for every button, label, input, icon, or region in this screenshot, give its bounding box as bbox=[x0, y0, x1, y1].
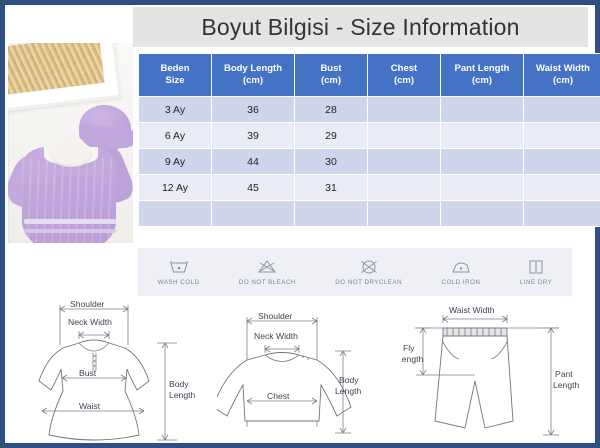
do-not-bleach-icon bbox=[256, 258, 278, 276]
size-chart-frame: Boyut Bilgisi - Size Information Beden S… bbox=[0, 0, 600, 448]
table-cell bbox=[441, 123, 524, 149]
table-cell: 30 bbox=[295, 149, 368, 175]
care-label: LINE DRY bbox=[520, 279, 552, 286]
page-title: Boyut Bilgisi - Size Information bbox=[201, 14, 519, 41]
dress-hem-stripe-1 bbox=[24, 219, 116, 224]
table-cell: 36 bbox=[212, 97, 295, 123]
care-label: WASH COLD bbox=[158, 279, 200, 286]
dress-collar bbox=[50, 141, 92, 167]
pant-label-waist-width: Waist Width bbox=[449, 305, 495, 315]
dress-hem-stripe-2 bbox=[24, 229, 116, 233]
care-label: COLD IRON bbox=[441, 279, 480, 286]
care-item-cold-iron: COLD IRON bbox=[441, 258, 480, 286]
care-item-line-dry: LINE DRY bbox=[520, 258, 552, 286]
dress-label-waist: Waist bbox=[79, 401, 101, 411]
table-cell: 44 bbox=[212, 149, 295, 175]
pant-label-pant-length: Length bbox=[553, 380, 580, 390]
column-header-waist-width: Waist Width (cm) bbox=[524, 54, 600, 97]
table-row: 12 Ay4531 bbox=[139, 175, 600, 201]
table-cell bbox=[524, 149, 600, 175]
table-cell bbox=[441, 175, 524, 201]
top-label-chest: Chest bbox=[267, 391, 290, 401]
table-cell: 12 Ay bbox=[139, 175, 212, 201]
care-item-do-not-bleach: DO NOT BLEACH bbox=[239, 258, 296, 286]
top-label-shoulder: Shoulder bbox=[258, 311, 293, 321]
table-cell: 3 Ay bbox=[139, 97, 212, 123]
size-table: Beden Size Body Length (cm) Bust (cm) Ch… bbox=[138, 53, 600, 227]
line-dry-icon bbox=[525, 258, 547, 276]
pant-label-pant: Pant bbox=[555, 369, 573, 379]
top-label-body: Body bbox=[339, 375, 359, 385]
column-header-pant-length: Pant Length (cm) bbox=[441, 54, 524, 97]
dress-label-bust: Bust bbox=[79, 368, 97, 378]
table-cell bbox=[441, 201, 524, 227]
table-row: 3 Ay3628 bbox=[139, 97, 600, 123]
dress-label-body: Body bbox=[169, 379, 189, 389]
table-cell bbox=[441, 97, 524, 123]
pant-label-fly-length: Length bbox=[401, 354, 424, 364]
table-cell bbox=[368, 123, 441, 149]
dress-label-shoulder: Shoulder bbox=[70, 299, 105, 309]
dress-label-neck-width: Neck Width bbox=[68, 317, 112, 327]
table-cell bbox=[441, 149, 524, 175]
table-cell bbox=[139, 201, 212, 227]
top-label-length: Length bbox=[335, 386, 362, 396]
technical-drawings: Shoulder Neck Width Bust Waist Body Leng… bbox=[5, 295, 595, 447]
table-cell bbox=[524, 201, 600, 227]
table-cell bbox=[295, 201, 368, 227]
column-header-beden-size: Beden Size bbox=[139, 54, 212, 97]
wash-cold-icon bbox=[168, 258, 190, 276]
table-cell: 39 bbox=[212, 123, 295, 149]
table-row: 6 Ay3929 bbox=[139, 123, 600, 149]
column-header-chest: Chest (cm) bbox=[368, 54, 441, 97]
care-item-wash-cold: WASH COLD bbox=[158, 258, 200, 286]
dress-diagram: Shoulder Neck Width Bust Waist Body Leng… bbox=[13, 295, 213, 447]
table-cell: 9 Ay bbox=[139, 149, 212, 175]
title-band: Boyut Bilgisi - Size Information bbox=[133, 7, 588, 47]
table-cell bbox=[524, 123, 600, 149]
pant-diagram: Waist Width Fly Length Pant Length bbox=[401, 295, 591, 447]
table-cell bbox=[368, 201, 441, 227]
table-cell: 45 bbox=[212, 175, 295, 201]
pant-label-fly: Fly bbox=[403, 343, 415, 353]
column-header-body-length: Body Length (cm) bbox=[212, 54, 295, 97]
cold-iron-icon bbox=[450, 258, 472, 276]
top-label-neck-width: Neck Width bbox=[254, 331, 298, 341]
table-header-row: Beden Size Body Length (cm) Bust (cm) Ch… bbox=[139, 54, 600, 97]
table-cell: 6 Ay bbox=[139, 123, 212, 149]
care-item-do-not-dryclean: DO NOT DRYCLEAN bbox=[335, 258, 402, 286]
dress-label-length: Length bbox=[169, 390, 196, 400]
table-cell: 31 bbox=[295, 175, 368, 201]
table-row bbox=[139, 201, 600, 227]
product-photo bbox=[8, 43, 133, 243]
table-cell: 29 bbox=[295, 123, 368, 149]
table-cell bbox=[368, 97, 441, 123]
size-table-body: 3 Ay36286 Ay39299 Ay443012 Ay4531 bbox=[139, 97, 600, 227]
size-table-wrap: Beden Size Body Length (cm) Bust (cm) Ch… bbox=[138, 53, 572, 227]
care-instructions-band: WASH COLD DO NOT BLEACH DO NOT DRYCLEAN … bbox=[138, 248, 572, 296]
table-cell bbox=[212, 201, 295, 227]
table-cell bbox=[524, 175, 600, 201]
care-label: DO NOT BLEACH bbox=[239, 279, 296, 286]
top-diagram: Shoulder Neck Width Chest Body Length bbox=[217, 295, 403, 447]
table-cell bbox=[368, 175, 441, 201]
column-header-bust: Bust (cm) bbox=[295, 54, 368, 97]
table-cell bbox=[368, 149, 441, 175]
table-cell bbox=[524, 97, 600, 123]
care-label: DO NOT DRYCLEAN bbox=[335, 279, 402, 286]
do-not-dryclean-icon bbox=[358, 258, 380, 276]
table-row: 9 Ay4430 bbox=[139, 149, 600, 175]
table-cell: 28 bbox=[295, 97, 368, 123]
